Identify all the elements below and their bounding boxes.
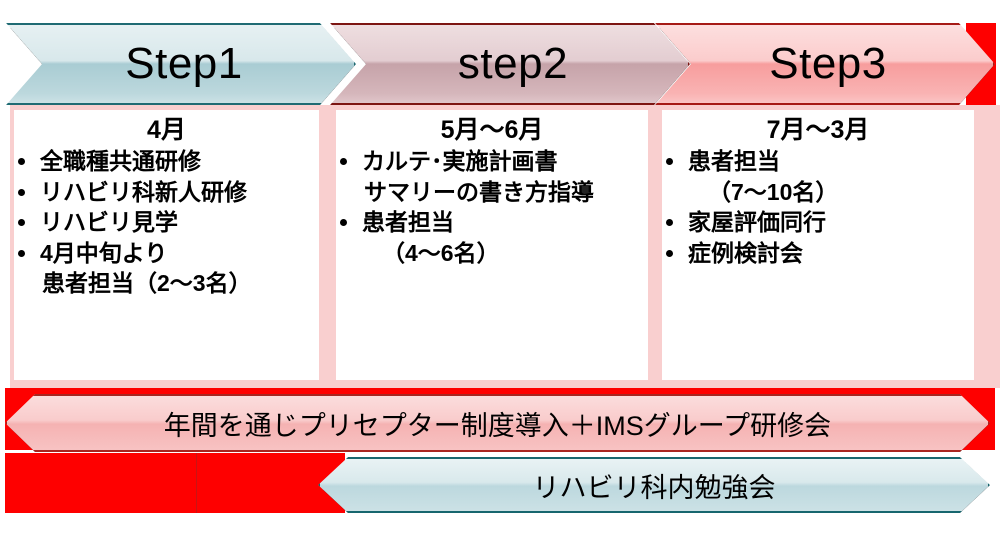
list-item: 全職種共通研修	[14, 146, 319, 177]
white-gap-left	[0, 105, 10, 388]
list-item: リハビリ科新人研修	[14, 177, 319, 208]
banner-arrow-study-group-label: リハビリ科内勉強会	[533, 466, 776, 505]
bullet-dot-icon	[340, 219, 347, 226]
list-item: カルテ･実施計画書サマリーの書き方指導	[336, 146, 648, 207]
step-header-row: Step1 step2 Step3	[0, 23, 1000, 105]
step-content-box-3: 7月～3月 患者担当（7～10名） 家屋評価同行 症例検討会	[662, 110, 974, 380]
step-content-box-1: 4月 全職種共通研修 リハビリ科新人研修 リハビリ見学 4月中旬より患者担当（2…	[14, 110, 319, 380]
step-header-2[interactable]: step2	[330, 23, 690, 105]
banner-arrow-preceptor[interactable]: 年間を通じプリセプター制度導入＋IMSグループ研修会	[5, 394, 990, 452]
bullet-dot-icon	[18, 219, 25, 226]
step-bullet-list-3: 患者担当（7～10名） 家屋評価同行 症例検討会	[662, 146, 974, 268]
step-bullet-list-2: カルテ･実施計画書サマリーの書き方指導 患者担当（4～6名）	[336, 146, 648, 268]
step-period-1: 4月	[14, 116, 319, 144]
list-item: 患者担当（7～10名）	[662, 146, 974, 207]
bullet-dot-icon	[666, 250, 673, 257]
step-header-2-label: step2	[452, 42, 568, 86]
step-header-3-label: Step3	[763, 42, 886, 86]
list-item: 4月中旬より患者担当（2～3名）	[14, 238, 319, 299]
bullet-dot-icon	[666, 219, 673, 226]
step-header-1-label: Step1	[119, 42, 242, 86]
step-content-box-2: 5月～6月 カルテ･実施計画書サマリーの書き方指導 患者担当（4～6名）	[336, 110, 648, 380]
red-block-divider	[196, 453, 197, 513]
bullet-dot-icon	[18, 250, 25, 257]
bullet-dot-icon	[18, 158, 25, 165]
banner-arrow-study-group[interactable]: リハビリ科内勉強会	[318, 457, 990, 513]
list-item: 家屋評価同行	[662, 207, 974, 238]
red-block-banner-2	[5, 453, 345, 513]
step-bullet-list-1: 全職種共通研修 リハビリ科新人研修 リハビリ見学 4月中旬より患者担当（2～3名…	[14, 146, 319, 299]
step-period-2: 5月～6月	[336, 116, 648, 144]
step-header-3[interactable]: Step3	[655, 23, 995, 105]
list-item: 症例検討会	[662, 238, 974, 269]
training-program-diagram: Step1 step2 Step3 4月 全職種共通研修 リハビリ科新人研修 リ…	[0, 0, 1000, 543]
bullet-dot-icon	[18, 189, 25, 196]
step-period-3: 7月～3月	[662, 116, 974, 144]
list-item: リハビリ見学	[14, 207, 319, 238]
bullet-dot-icon	[340, 158, 347, 165]
bullet-dot-icon	[666, 158, 673, 165]
step-header-1[interactable]: Step1	[6, 23, 356, 105]
list-item: 患者担当（4～6名）	[336, 207, 648, 268]
banner-arrow-preceptor-label: 年間を通じプリセプター制度導入＋IMSグループ研修会	[164, 404, 831, 443]
